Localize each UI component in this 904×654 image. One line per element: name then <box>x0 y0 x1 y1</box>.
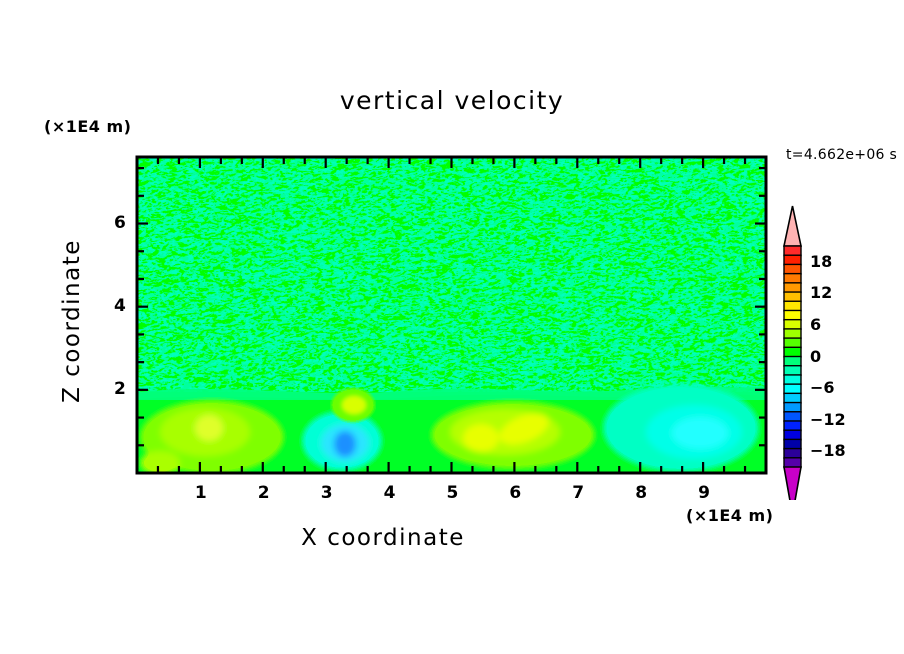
colorbar-segment <box>784 274 801 284</box>
colorbar-segment <box>784 292 801 302</box>
y-tick-label: 2 <box>114 379 126 399</box>
colorbar-segment <box>784 412 801 422</box>
mid-plume <box>331 388 375 422</box>
x-tick-label: 1 <box>195 483 207 503</box>
colorbar-segment <box>784 403 801 413</box>
colorbar-segment <box>784 264 801 274</box>
colorbar-segments <box>784 206 801 500</box>
y-tick-label: 4 <box>114 296 126 316</box>
x-tick-label: 3 <box>321 483 333 503</box>
x-axis-title: X coordinate <box>0 525 766 551</box>
x-tick-label: 5 <box>447 483 459 503</box>
contour-field <box>42 49 896 476</box>
colorbar-tick-label: 0 <box>810 347 821 366</box>
colorbar-segment <box>784 430 801 440</box>
colorbar-under-arrow <box>784 467 801 500</box>
contour-plot <box>0 0 904 654</box>
colorbar-segment <box>784 338 801 348</box>
colorbar-tick-label: −12 <box>810 410 846 429</box>
y-tick-label: 6 <box>114 213 126 233</box>
colorbar-over-arrow <box>784 206 801 246</box>
colorbar-tick-label: 12 <box>810 283 832 302</box>
x-tick-label: 9 <box>698 483 710 503</box>
colorbar-segment <box>784 421 801 431</box>
figure-canvas: vertical velocity (×1E4 m) t=4.662e+06 s <box>0 0 904 654</box>
x-tick-label: 7 <box>572 483 584 503</box>
x-tick-label: 2 <box>258 483 270 503</box>
colorbar-segment <box>784 357 801 367</box>
colorbar-segment <box>784 283 801 293</box>
colorbar-segment <box>784 449 801 459</box>
x-axis-unit-label: (×1E4 m) <box>686 506 773 525</box>
colorbar-segment <box>784 384 801 394</box>
colorbar-segment <box>784 439 801 449</box>
colorbar-segment <box>784 255 801 265</box>
x-tick-label: 4 <box>384 483 396 503</box>
x-tick-label: 6 <box>509 483 521 503</box>
colorbar-segment <box>784 310 801 320</box>
colorbar-segment <box>784 347 801 357</box>
colorbar-segment <box>784 320 801 330</box>
colorbar-tick-label: −18 <box>810 441 846 460</box>
colorbar-segment <box>784 246 801 256</box>
colorbar-segment <box>784 375 801 385</box>
colorbar-tick-label: 6 <box>810 315 821 334</box>
colorbar-tick-label: −6 <box>810 378 835 397</box>
x-tick-label: 8 <box>635 483 647 503</box>
colorbar-segment <box>784 393 801 403</box>
colorbar-segment <box>784 329 801 339</box>
colorbar-segment <box>784 301 801 311</box>
y-axis-title: Z coordinate <box>59 221 85 421</box>
colorbar-segment <box>784 458 801 468</box>
colorbar-segment <box>784 366 801 376</box>
colorbar-tick-label: 18 <box>810 252 832 271</box>
